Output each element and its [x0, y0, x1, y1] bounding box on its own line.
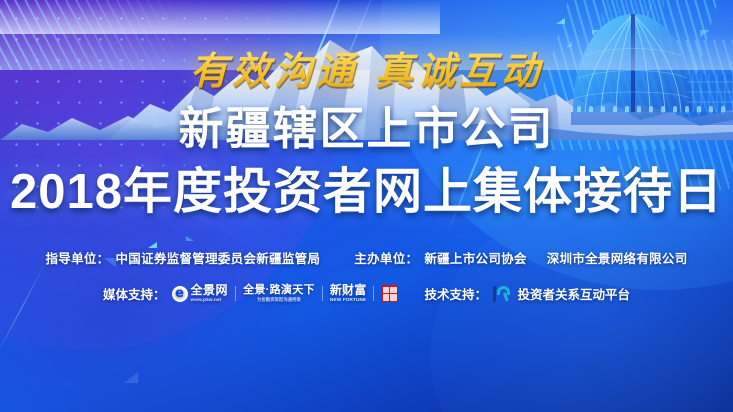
media-logo-list: 全景网 www.p5w.net 全景·路演天下 为投融资架起沟通桥梁 新财富 N… [172, 284, 399, 303]
tech-support-platform: 投资者关系互动平台 [517, 284, 630, 303]
host-unit: 主办单位：新疆上市公司协会 深圳市全景网络有限公司 [354, 248, 687, 267]
p5w-logo-zh: 全景网 [191, 284, 229, 296]
new-fortune-logo-zh: 新财富 [330, 284, 367, 296]
logo-divider [322, 286, 323, 301]
banner-title-line1: 新疆辖区上市公司 [0, 92, 733, 157]
host-unit-value-2: 深圳市全景网络有限公司 [547, 248, 688, 267]
guide-unit-label: 指导单位： [45, 248, 109, 267]
roadshow-logo-sub: 为投融资架起沟通桥梁 [257, 298, 301, 302]
p5w-logo-url: www.p5w.net [191, 298, 229, 303]
media-support-group: 媒体支持： 全景网 www.p5w.net 全景·路演天下 为投融资架起沟通桥梁 [103, 284, 398, 303]
host-unit-label: 主办单位： [354, 248, 418, 267]
tech-support-group: 技术支持： 投资者关系互动平台 [424, 284, 630, 303]
credits-row: 指导单位：中国证券监督管理委员会新疆监管局 主办单位：新疆上市公司协会 深圳市全… [0, 248, 733, 267]
roadshow-logo[interactable]: 全景·路演天下 为投融资架起沟通桥梁 [243, 285, 315, 302]
new-fortune-logo[interactable]: 新财富 NEW FORTUNE [330, 284, 367, 303]
logo-divider [373, 286, 374, 301]
guide-unit-value: 中国证券监督管理委员会新疆监管局 [115, 248, 320, 267]
banner-content: 有效沟通 真诚互动 新疆辖区上市公司 2018年度投资者网上集体接待日 指导单位… [0, 0, 733, 412]
p5w-logo[interactable]: 全景网 www.p5w.net [172, 284, 229, 302]
guide-unit: 指导单位：中国证券监督管理委员会新疆监管局 [45, 248, 320, 267]
red-seal-icon[interactable] [381, 285, 398, 302]
host-unit-value-1: 新疆上市公司协会 [424, 248, 526, 267]
p5w-circle-e-icon [172, 286, 188, 302]
new-fortune-logo-en: NEW FORTUNE [330, 298, 366, 303]
roadshow-logo-zh: 全景·路演天下 [243, 285, 315, 296]
banner-title-line2: 2018年度投资者网上集体接待日 [0, 152, 733, 223]
support-row: 媒体支持： 全景网 www.p5w.net 全景·路演天下 为投融资架起沟通桥梁 [0, 284, 733, 303]
tech-support-label: 技术支持： [424, 284, 487, 303]
logo-divider [235, 286, 236, 301]
media-support-label: 媒体支持： [103, 284, 166, 303]
event-banner: 有效沟通 真诚互动 新疆辖区上市公司 2018年度投资者网上集体接待日 指导单位… [0, 0, 733, 412]
ir-logo-icon[interactable] [493, 286, 512, 302]
banner-tagline: 有效沟通 真诚互动 [0, 40, 733, 95]
